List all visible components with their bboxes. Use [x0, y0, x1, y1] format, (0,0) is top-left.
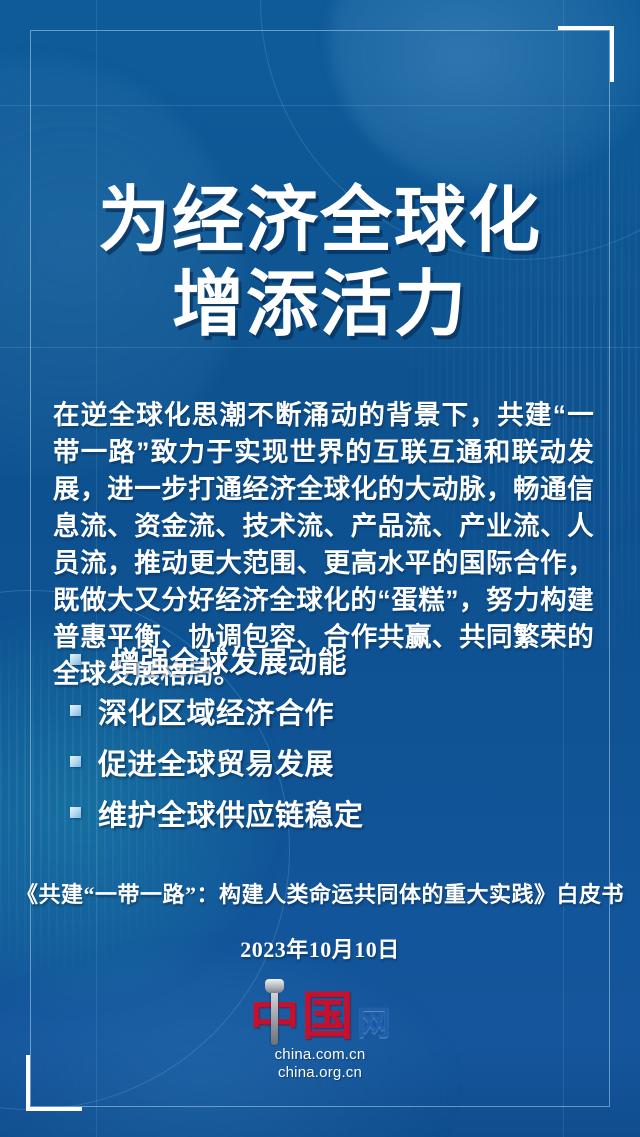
- list-item: 增强全球发展动能: [70, 634, 590, 685]
- list-item-label: 深化区域经济合作: [98, 690, 334, 732]
- list-item: 深化区域经济合作: [70, 685, 590, 736]
- publication-date: 2023年10月10日: [0, 932, 640, 964]
- logo-char-zhong: 中: [249, 994, 299, 1044]
- logo-urls: china.com.cn china.org.cn: [275, 1046, 366, 1082]
- list-item-label: 促进全球贸易发展: [98, 741, 334, 783]
- list-item-label: 增强全球发展动能: [98, 639, 347, 681]
- logo-char-guo: 国: [301, 992, 353, 1044]
- publisher-logo: 中 国 网 china.com.cn china.org.cn: [0, 988, 640, 1082]
- key-points-list: 增强全球发展动能 深化区域经济合作 促进全球贸易发展 维护全球供应链稳定: [70, 634, 590, 838]
- title-line-1: 为经济全球化: [0, 179, 640, 263]
- list-item-label: 维护全球供应链稳定: [98, 792, 364, 834]
- poster-card: 为经济全球化 增添活力 在逆全球化思潮不断涌动的背景下，共建“一带一路”致力于实…: [0, 0, 640, 1137]
- list-item: 促进全球贸易发展: [70, 736, 590, 787]
- bullet-square-icon: [70, 654, 81, 665]
- page-title: 为经济全球化 增添活力: [0, 179, 640, 347]
- bullet-square-icon: [70, 756, 81, 767]
- bullet-square-icon: [70, 705, 81, 716]
- logo-url-secondary: china.org.cn: [275, 1064, 366, 1082]
- logo-char-wang: 网: [358, 1008, 391, 1041]
- logo-url-primary: china.com.cn: [275, 1046, 366, 1064]
- footer-citation: 《共建“一带一路”：构建人类命运共同体的重大实践》白皮书 2023年10月10日: [0, 880, 640, 964]
- bullet-square-icon: [70, 807, 81, 818]
- title-line-2: 增添活力: [0, 263, 640, 347]
- list-item: 维护全球供应链稳定: [70, 787, 590, 838]
- brush-stroke-icon: [271, 983, 278, 1045]
- logo-characters: 中 国 网: [249, 988, 390, 1044]
- poster-content: 为经济全球化 增添活力 在逆全球化思潮不断涌动的背景下，共建“一带一路”致力于实…: [0, 0, 640, 1137]
- source-document-title: 《共建“一带一路”：构建人类命运共同体的重大实践》白皮书: [0, 880, 640, 910]
